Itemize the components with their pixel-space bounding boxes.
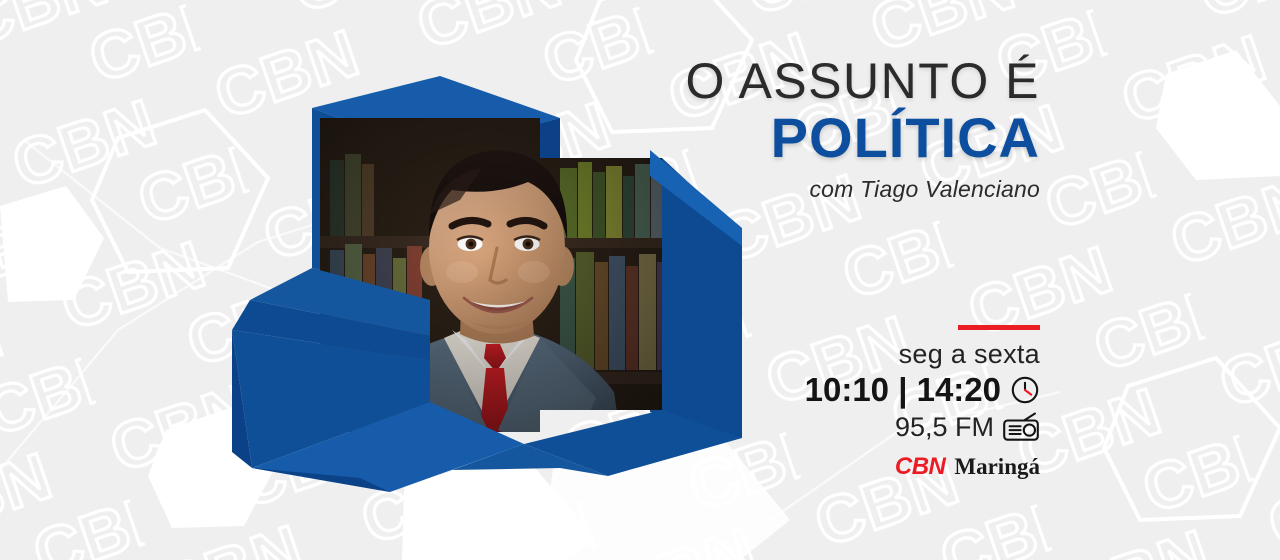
schedule-frequency: 95,5 FM	[895, 413, 994, 443]
clock-icon	[1010, 375, 1040, 405]
host-credit: com Tiago Valenciano	[420, 176, 1040, 203]
page-title: O ASSUNTO É	[420, 56, 1040, 107]
radio-icon	[1002, 412, 1040, 442]
page-title-accent: POLÍTICA	[420, 109, 1040, 166]
banner-root: CBN CBN	[0, 0, 1280, 560]
schedule-times-row: 10:10 | 14:20	[620, 372, 1040, 408]
station-city-label: Maringá	[954, 454, 1040, 480]
accent-divider	[958, 325, 1040, 330]
program-title-block: O ASSUNTO É POLÍTICA com Tiago Valencian…	[420, 56, 1040, 203]
schedule-times: 10:10 | 14:20	[805, 372, 1001, 408]
network-logo-text: CBN	[895, 453, 946, 481]
schedule-days: seg a sexta	[620, 339, 1040, 370]
schedule-block: seg a sexta 10:10 | 14:20 95,5 FM CBN M	[620, 325, 1040, 481]
schedule-frequency-row: 95,5 FM	[620, 412, 1040, 442]
station-logo: CBN Maringá	[620, 453, 1040, 481]
